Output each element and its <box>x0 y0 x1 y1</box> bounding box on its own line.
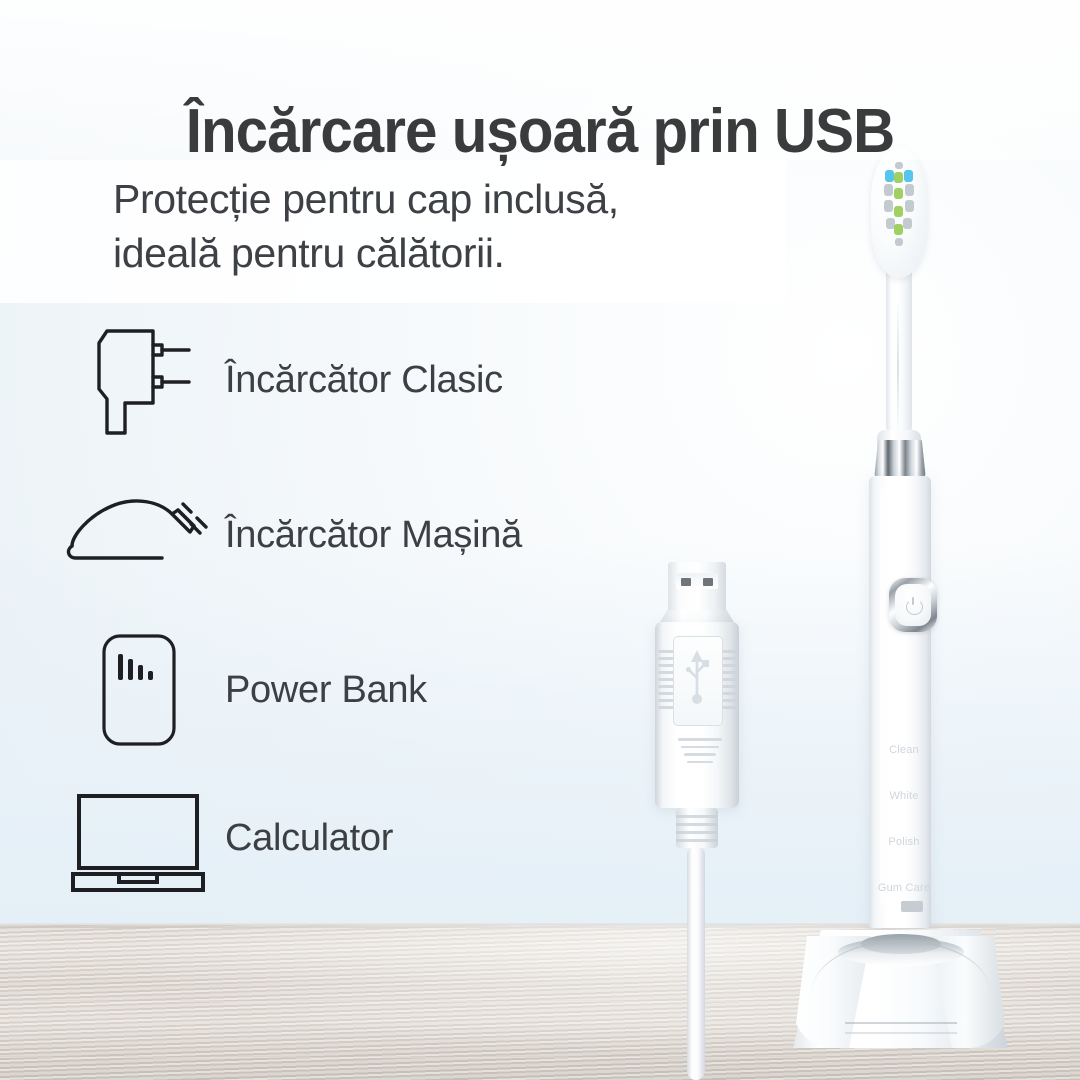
bristle-tuft <box>894 206 903 217</box>
subtitle-line-1: Protecție pentru cap inclusă, <box>113 172 793 226</box>
feature-label: Calculator <box>225 816 393 860</box>
feature-item-computer[interactable]: Calculator <box>50 778 670 898</box>
chrome-band <box>874 440 926 480</box>
wall-charger-icon <box>50 320 225 440</box>
bristle-tuft <box>884 200 893 212</box>
feature-label: Încărcător Clasic <box>225 358 503 402</box>
computer-icon <box>50 778 225 898</box>
subtitle: Protecție pentru cap inclusă, ideală pen… <box>113 172 793 280</box>
usb-trident-icon <box>681 644 713 716</box>
battery-indicator-icon <box>901 901 923 912</box>
power-symbol-icon <box>906 597 921 613</box>
subtitle-line-2: ideală pentru călătorii. <box>113 226 793 280</box>
bristle-tuft <box>905 200 914 212</box>
mode-label: White <box>876 790 932 803</box>
mode-label: Clean <box>876 744 932 757</box>
brush-head-groove <box>897 300 899 435</box>
charging-base-seam <box>845 1032 957 1034</box>
charging-base-seam <box>845 1022 957 1024</box>
bristle-tuft <box>904 170 913 182</box>
page-title: Încărcare ușoară prin USB <box>32 94 1047 170</box>
bristle-tuft <box>894 224 903 235</box>
car-charger-icon <box>50 475 225 595</box>
usb-contact-pin <box>703 578 713 586</box>
bristle-tuft <box>894 188 903 199</box>
usb-contact-pin <box>681 578 691 586</box>
power-button[interactable] <box>895 584 931 626</box>
mode-label: Polish <box>876 836 932 849</box>
bristle-tuft <box>894 172 903 183</box>
usb-cord <box>687 846 705 1080</box>
feature-label: Power Bank <box>225 668 427 712</box>
feature-item-wall-charger[interactable]: Încărcător Clasic <box>50 320 670 440</box>
bristle-tuft <box>884 184 893 196</box>
bristle-tuft <box>895 238 903 246</box>
feature-item-car-charger[interactable]: Încărcător Mașină <box>50 475 670 595</box>
brush-bristles <box>884 162 914 262</box>
bristle-tuft <box>905 184 914 196</box>
mode-label: Gum Care <box>876 882 932 895</box>
feature-item-power-bank[interactable]: Power Bank <box>50 630 670 750</box>
infographic-canvas: CleanWhitePolishGum Care <box>0 0 1080 1080</box>
usb-strain-relief <box>676 808 718 848</box>
feature-label: Încărcător Mașină <box>225 513 522 557</box>
bristle-tuft <box>885 170 894 182</box>
usb-grip-lines <box>678 738 722 766</box>
power-bank-icon <box>50 630 225 750</box>
bristle-tuft <box>903 218 912 229</box>
